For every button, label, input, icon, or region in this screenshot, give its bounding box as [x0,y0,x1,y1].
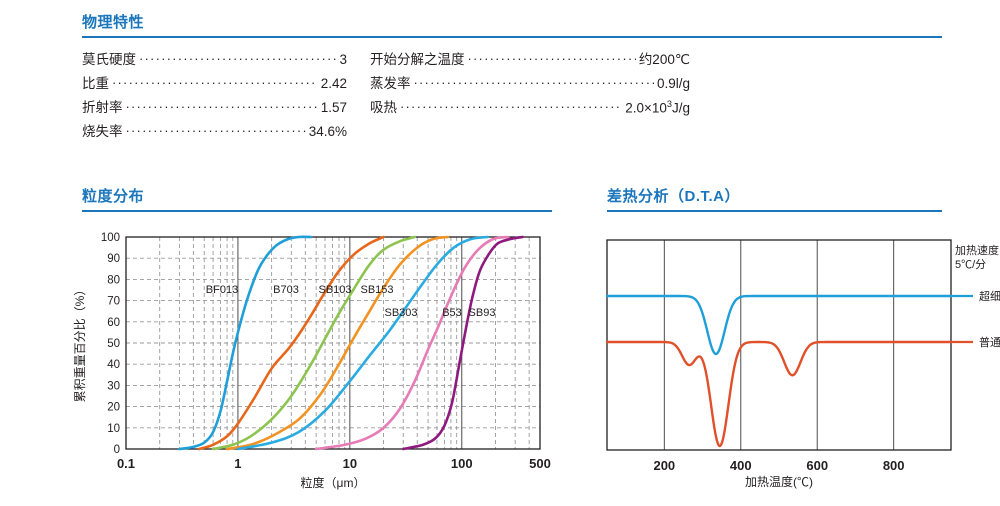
psd-curve-label-SB103: SB103 [318,284,351,296]
psd-y-tick-label: 30 [107,380,120,392]
dta-gridlines [664,240,893,450]
properties-column-left: 莫氏硬度····································… [82,48,347,144]
property-label: 莫氏硬度 [82,48,136,68]
property-label: 比重 [82,72,109,92]
psd-y-tick-label: 40 [107,359,120,371]
dta-annotation-line: 5℃/分 [955,258,986,271]
property-value: 2.0×103J/g [625,99,690,116]
property-dot-leader: ········································… [126,99,318,114]
dta-annotation-line: 加热速度 [955,243,999,257]
section-rule [82,210,552,212]
dta-series-label-超细粉: 超细粉 [979,289,1000,303]
property-dot-leader: ········································… [112,75,318,90]
page-root: 物理特性 莫氏硬度·······························… [0,0,1000,506]
chart-dta: 200400600800加热温度(℃)超细粉普通粒度加热速度5℃/分 [600,232,990,494]
property-dot-leader: ········································… [139,51,336,66]
dta-x-tick-label: 600 [806,458,828,473]
psd-curve-label-SB93: SB93 [469,307,496,319]
psd-y-tick-label: 20 [107,402,120,414]
section-rule [607,210,942,212]
psd-curve-label-SB303: SB303 [384,307,417,319]
property-row: 比重······································… [82,72,347,96]
psd-x-axis-title: 粒度（μm） [301,475,366,490]
property-value: 约200℃ [639,48,690,68]
psd-x-tick-label: 100 [451,456,473,471]
psd-svg: 01020304050607080901000.1110100500粒度（μm）… [70,228,570,493]
dta-svg: 200400600800加热温度(℃)超细粉普通粒度加热速度5℃/分 [600,232,990,494]
section-title-psd: 粒度分布 [82,188,552,206]
property-value: 2.42 [321,76,347,91]
section-heading-dta: 差热分析（D.T.A） [607,188,942,212]
properties-column-right: 开始分解之温度·································… [370,48,690,120]
property-label: 折射率 [82,96,123,116]
property-value: 1.57 [321,100,347,115]
psd-y-tick-label: 60 [107,317,120,329]
property-value: 34.6% [309,124,347,139]
psd-y-tick-label: 90 [107,253,120,265]
property-row: 开始分解之温度·································… [370,48,690,72]
section-title-dta: 差热分析（D.T.A） [607,188,942,206]
psd-x-tick-label: 1 [234,456,241,471]
property-row: 吸热······································… [370,96,690,120]
psd-x-tick-label: 10 [343,456,357,471]
dta-x-tick-label: 200 [653,458,675,473]
psd-y-tick-label: 100 [101,232,120,244]
property-dot-leader: ········································… [400,99,622,114]
psd-y-tick-label: 50 [107,338,120,350]
property-dot-leader: ········································… [468,51,636,66]
property-label: 烧失率 [82,120,123,140]
section-rule [82,36,942,38]
psd-y-tick-label: 0 [114,444,120,456]
psd-curve-label-B53: B53 [442,307,462,319]
psd-y-tick-label: 10 [107,423,120,435]
property-row: 烧失率·····································… [82,120,347,144]
section-title-physical: 物理特性 [82,14,942,32]
property-row: 蒸发率·····································… [370,72,690,96]
psd-curve-label-B703: B703 [273,284,299,296]
psd-x-tick-label: 500 [529,456,551,471]
section-heading-psd: 粒度分布 [82,188,552,212]
dta-plot-frame [607,240,951,450]
psd-curve-label-SB153: SB153 [360,284,393,296]
dta-curves [607,296,973,446]
property-label: 蒸发率 [370,72,411,92]
dta-x-tick-label: 400 [730,458,752,473]
dta-curve-超细粉 [607,296,951,354]
psd-curve-label-BF013: BF013 [206,284,238,296]
property-value: 0.9l/g [657,76,690,91]
dta-x-tick-label: 800 [883,458,905,473]
psd-y-axis-title: 累积重量百分比（%） [73,284,87,403]
dta-x-axis-title: 加热温度(℃) [745,474,813,489]
property-label: 吸热 [370,96,397,116]
psd-y-tick-label: 80 [107,274,120,286]
psd-gridlines [126,237,540,449]
chart-particle-size-distribution: 01020304050607080901000.1110100500粒度（μm）… [70,228,570,493]
property-dot-leader: ········································… [126,123,306,138]
property-row: 莫氏硬度····································… [82,48,347,72]
property-row: 折射率·····································… [82,96,347,120]
section-heading-physical: 物理特性 [82,14,942,38]
dta-curve-普通粒度 [607,342,951,446]
dta-series-label-普通粒度: 普通粒度 [979,335,1000,349]
property-label: 开始分解之温度 [370,48,465,68]
psd-x-tick-label: 0.1 [117,456,135,471]
property-value: 3 [339,52,347,67]
property-dot-leader: ········································… [414,75,654,90]
psd-y-tick-label: 70 [107,296,120,308]
